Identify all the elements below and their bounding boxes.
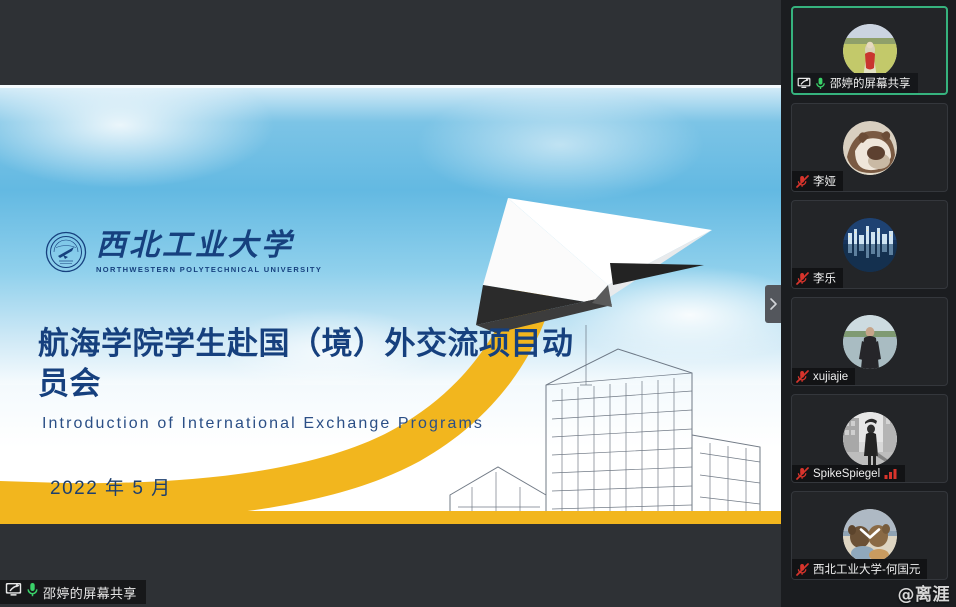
screen-share-icon xyxy=(5,582,22,602)
participant-name-chip: 邵婷的屏幕共享 xyxy=(793,73,918,93)
avatar xyxy=(843,121,897,175)
university-logo: 西北工业大学 NORTHWESTERN POLYTECHNICAL UNIVER… xyxy=(45,230,322,274)
participant-name: 西北工业大学-何国元 xyxy=(813,561,920,577)
microphone-muted-icon xyxy=(796,467,809,480)
avatar xyxy=(843,24,897,78)
avatar xyxy=(843,218,897,272)
participant-name: 邵婷的屏幕共享 xyxy=(830,75,911,91)
participant-tile[interactable]: xujiajie xyxy=(791,297,948,386)
chevron-right-icon xyxy=(768,297,778,311)
participant-name-chip: 李乐 xyxy=(792,268,843,288)
avatar xyxy=(843,315,897,369)
microphone-muted-icon xyxy=(796,272,809,285)
participant-name-chip: 李娅 xyxy=(792,171,843,191)
slide-date: 2022 年 5 月 xyxy=(50,473,172,500)
microphone-icon xyxy=(815,77,826,90)
participant-tile[interactable]: 邵婷的屏幕共享 xyxy=(791,6,948,95)
avatar xyxy=(843,412,897,466)
participants-panel[interactable]: 邵婷的屏幕共享 xyxy=(781,0,956,607)
slide-top-edge xyxy=(0,85,781,88)
watermark: @离涯 xyxy=(898,580,951,605)
microphone-icon xyxy=(26,582,39,603)
presentation-slide: 西北工业大学 NORTHWESTERN POLYTECHNICAL UNIVER… xyxy=(0,85,781,524)
participant-name-chip: SpikeSpiegel xyxy=(792,465,905,482)
chevron-down-icon[interactable] xyxy=(859,526,881,545)
share-letterbox-top xyxy=(0,0,781,85)
panel-collapse-handle[interactable] xyxy=(765,285,781,323)
microphone-muted-icon xyxy=(796,370,809,383)
participant-tile[interactable]: SpikeSpiegel xyxy=(791,394,948,483)
participant-name-chip: 西北工业大学-何国元 xyxy=(792,559,927,579)
slide-title-en: Introduction of International Exchange P… xyxy=(42,415,484,433)
microphone-muted-icon xyxy=(796,175,809,188)
screen-share-icon xyxy=(797,77,811,89)
participant-name: 李乐 xyxy=(813,270,836,286)
participant-tile[interactable]: 李娅 xyxy=(791,103,948,192)
microphone-muted-icon xyxy=(796,563,809,576)
participant-name: 李娅 xyxy=(813,173,836,189)
participant-tile[interactable]: 西北工业大学-何国元 xyxy=(791,491,948,580)
participant-name-chip: xujiajie xyxy=(792,368,855,385)
university-name-cn: 西北工业大学 xyxy=(96,230,322,262)
participant-name: xujiajie xyxy=(813,371,848,383)
participant-tile[interactable]: 李乐 xyxy=(791,200,948,289)
slide-title-cn: 航海学院学生赴国（境）外交流项目动员会 xyxy=(38,325,578,404)
university-name-en: NORTHWESTERN POLYTECHNICAL UNIVERSITY xyxy=(96,265,322,274)
screen-share-status-bar: 邵婷的屏幕共享 xyxy=(0,580,146,604)
university-seal-icon xyxy=(45,231,87,273)
screen-share-status-label: 邵婷的屏幕共享 xyxy=(43,583,137,602)
screen-share-region: 西北工业大学 NORTHWESTERN POLYTECHNICAL UNIVER… xyxy=(0,0,781,607)
audio-signal-icon xyxy=(884,468,898,479)
participant-name: SpikeSpiegel xyxy=(813,468,880,480)
